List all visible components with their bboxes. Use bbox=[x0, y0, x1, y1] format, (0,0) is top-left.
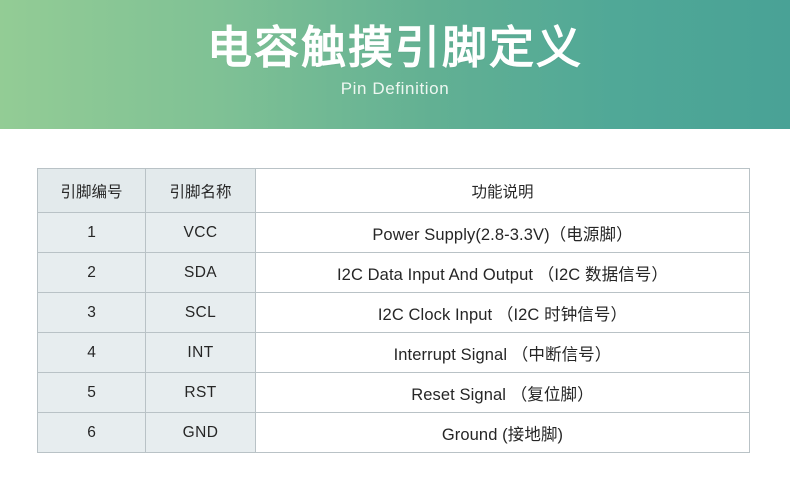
cell-pin-number: 6 bbox=[38, 413, 146, 453]
pin-definition-table: 引脚编号 引脚名称 功能说明 1 VCC Power Supply(2.8-3.… bbox=[37, 168, 750, 453]
page-title: 电容触摸引脚定义 bbox=[207, 20, 583, 76]
cell-pin-number: 5 bbox=[38, 373, 146, 413]
page-banner: 电容触摸引脚定义 Pin Definition bbox=[0, 0, 790, 129]
cell-description: I2C Clock Input （I2C 时钟信号） bbox=[256, 293, 750, 333]
cell-pin-name: VCC bbox=[146, 213, 256, 253]
cell-description: I2C Data Input And Output （I2C 数据信号） bbox=[256, 253, 750, 293]
table-header-row: 引脚编号 引脚名称 功能说明 bbox=[38, 169, 750, 213]
cell-pin-name: SCL bbox=[146, 293, 256, 333]
cell-description: Interrupt Signal （中断信号） bbox=[256, 333, 750, 373]
cell-description: Ground (接地脚) bbox=[256, 413, 750, 453]
cell-pin-number: 1 bbox=[38, 213, 146, 253]
table-row: 1 VCC Power Supply(2.8-3.3V)（电源脚） bbox=[38, 213, 750, 253]
cell-pin-name: GND bbox=[146, 413, 256, 453]
table-row: 3 SCL I2C Clock Input （I2C 时钟信号） bbox=[38, 293, 750, 333]
table-row: 4 INT Interrupt Signal （中断信号） bbox=[38, 333, 750, 373]
cell-pin-name: INT bbox=[146, 333, 256, 373]
pin-definition-table-container: 引脚编号 引脚名称 功能说明 1 VCC Power Supply(2.8-3.… bbox=[37, 168, 749, 453]
column-header-pin-number: 引脚编号 bbox=[38, 169, 146, 213]
column-header-pin-name: 引脚名称 bbox=[146, 169, 256, 213]
cell-pin-number: 4 bbox=[38, 333, 146, 373]
cell-pin-number: 2 bbox=[38, 253, 146, 293]
cell-description: Power Supply(2.8-3.3V)（电源脚） bbox=[256, 213, 750, 253]
column-header-function-description: 功能说明 bbox=[256, 169, 750, 213]
table-row: 5 RST Reset Signal （复位脚） bbox=[38, 373, 750, 413]
page-subtitle: Pin Definition bbox=[341, 78, 450, 100]
cell-description: Reset Signal （复位脚） bbox=[256, 373, 750, 413]
cell-pin-name: SDA bbox=[146, 253, 256, 293]
table-row: 2 SDA I2C Data Input And Output （I2C 数据信… bbox=[38, 253, 750, 293]
table-row: 6 GND Ground (接地脚) bbox=[38, 413, 750, 453]
cell-pin-number: 3 bbox=[38, 293, 146, 333]
cell-pin-name: RST bbox=[146, 373, 256, 413]
